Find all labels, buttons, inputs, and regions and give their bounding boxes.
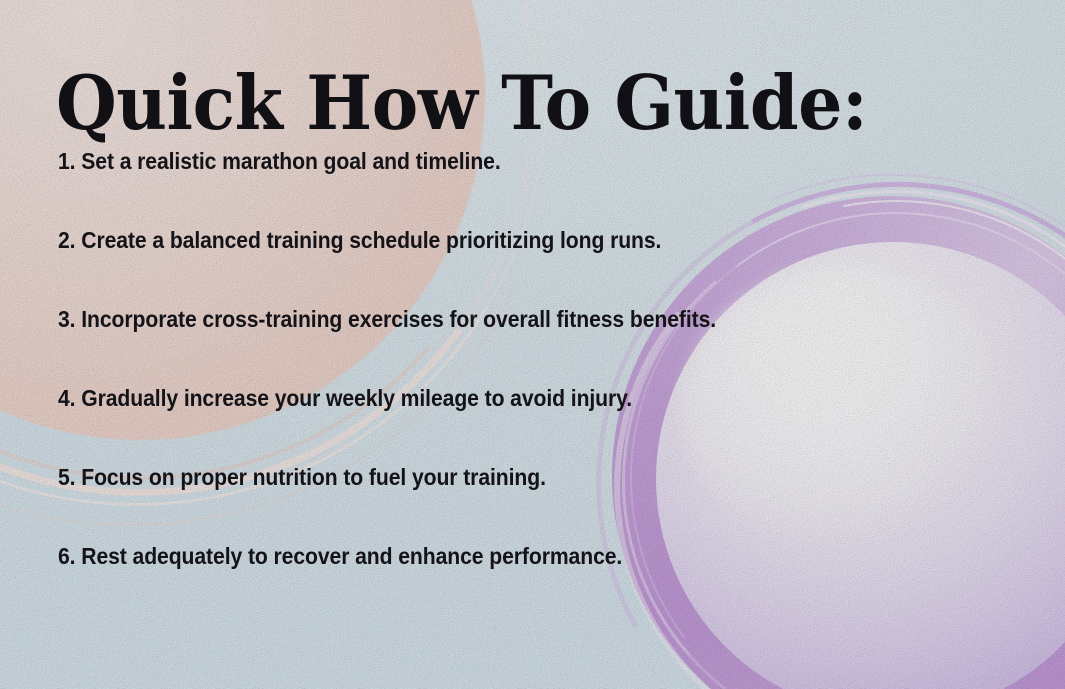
list-item: 3. Incorporate cross-training exercises …	[58, 308, 923, 334]
list-item: 1. Set a realistic marathon goal and tim…	[58, 150, 923, 176]
poster-content: Quick How To Guide: 1. Set a realistic m…	[0, 0, 1065, 689]
list-item: 5. Focus on proper nutrition to fuel you…	[58, 466, 923, 492]
list-item: 4. Gradually increase your weekly mileag…	[58, 387, 923, 413]
page-title: Quick How To Guide:	[56, 64, 867, 143]
list-item: 6. Rest adequately to recover and enhanc…	[58, 545, 923, 571]
how-to-steps-list: 1. Set a realistic marathon goal and tim…	[58, 150, 998, 571]
poster-canvas: Quick How To Guide: 1. Set a realistic m…	[0, 0, 1065, 689]
list-item: 2. Create a balanced training schedule p…	[58, 229, 923, 255]
